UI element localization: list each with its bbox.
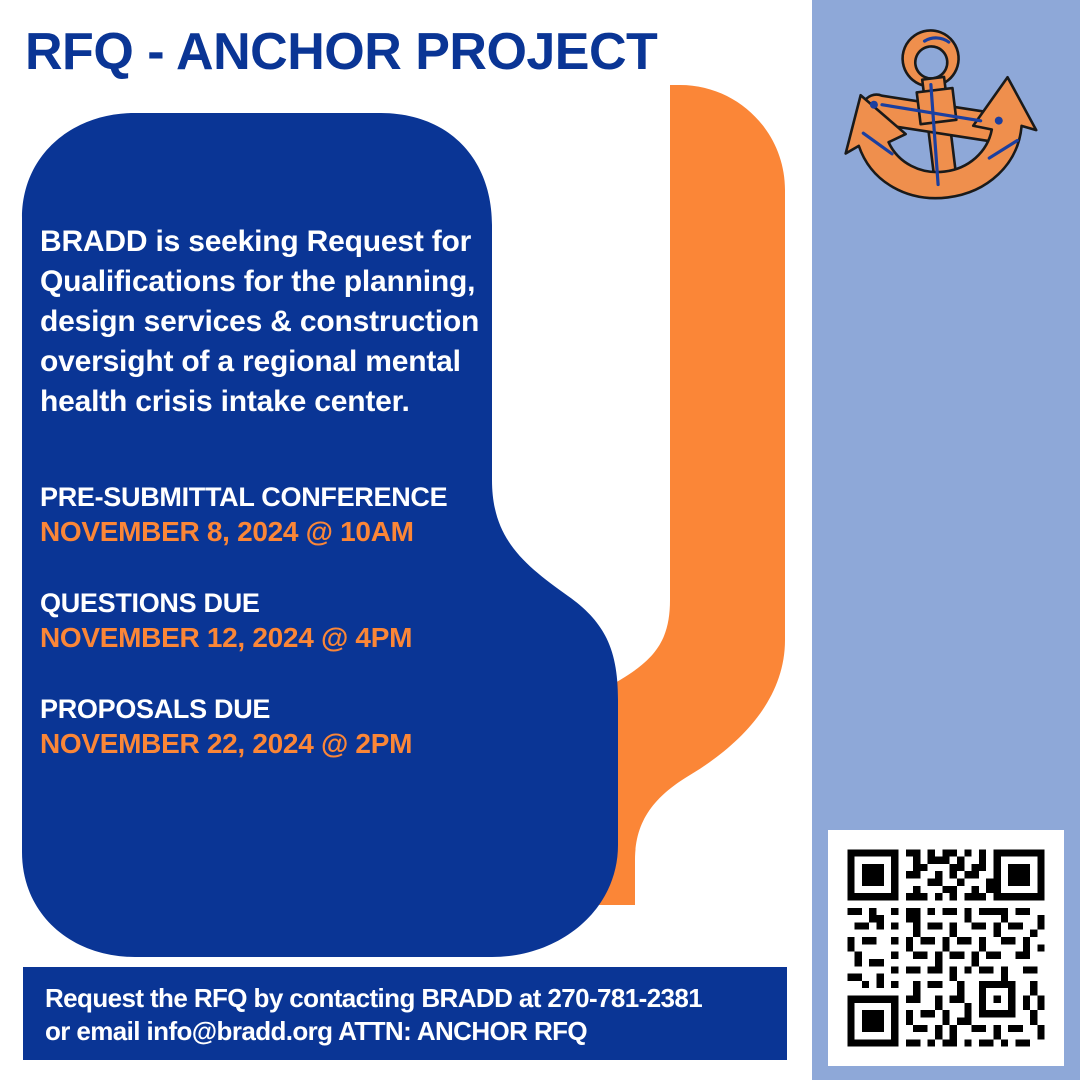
deadline-date: NOVEMBER 22, 2024 @ 2PM: [40, 726, 510, 762]
deadline-label: QUESTIONS DUE: [40, 586, 510, 620]
contact-footer-bar: Request the RFQ by contacting BRADD at 2…: [23, 967, 787, 1060]
deadline-label: PROPOSALS DUE: [40, 692, 510, 726]
content-area: BRADD is seeking Request for Qualificati…: [40, 222, 510, 762]
deadline-label: PRE-SUBMITTAL CONFERENCE: [40, 480, 510, 514]
rfq-poster: RFQ - ANCHOR PROJECT BRADD is seeking Re…: [0, 0, 1080, 1080]
page-title: RFQ - ANCHOR PROJECT: [25, 22, 657, 82]
anchor-icon: [832, 12, 1044, 224]
deadline-item: QUESTIONS DUE NOVEMBER 12, 2024 @ 4PM: [40, 586, 510, 656]
qr-code[interactable]: [828, 830, 1064, 1066]
sidebar-panel: [812, 0, 1080, 1080]
footer-line-phone: Request the RFQ by contacting BRADD at 2…: [45, 982, 765, 1015]
deadline-date: NOVEMBER 8, 2024 @ 10AM: [40, 514, 510, 550]
body-paragraph: BRADD is seeking Request for Qualificati…: [40, 222, 510, 422]
deadline-date: NOVEMBER 12, 2024 @ 4PM: [40, 620, 510, 656]
deadlines-list: PRE-SUBMITTAL CONFERENCE NOVEMBER 8, 202…: [40, 480, 510, 762]
footer-line-email: or email info@bradd.org ATTN: ANCHOR RFQ: [45, 1015, 765, 1048]
deadline-item: PRE-SUBMITTAL CONFERENCE NOVEMBER 8, 202…: [40, 480, 510, 550]
deadline-item: PROPOSALS DUE NOVEMBER 22, 2024 @ 2PM: [40, 692, 510, 762]
